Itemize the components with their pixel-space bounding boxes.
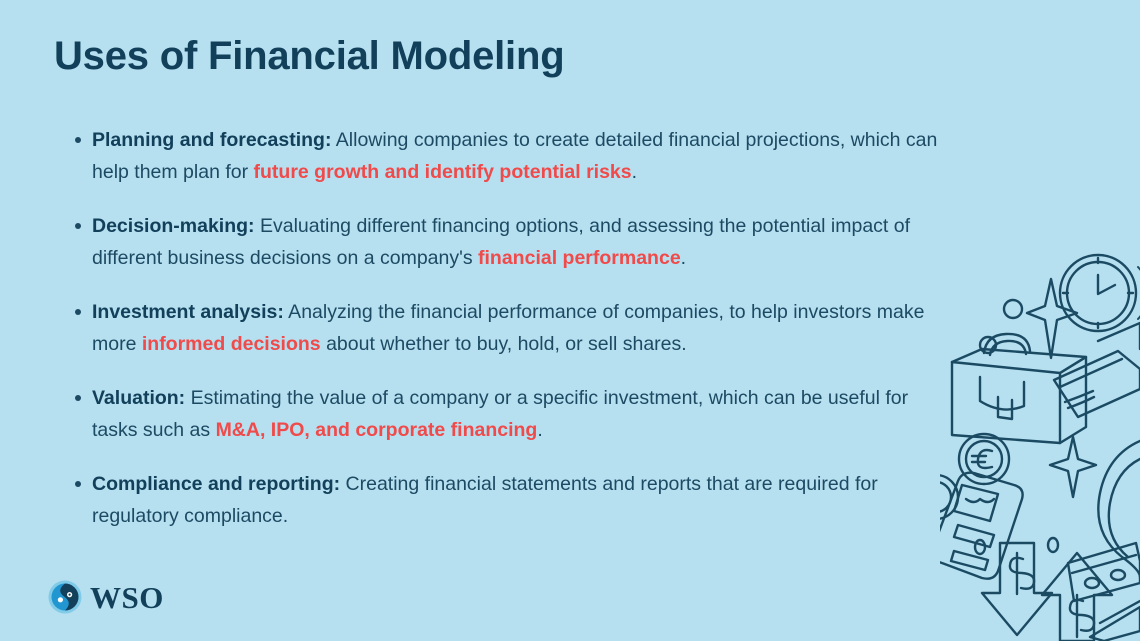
slide-canvas: Uses of Financial Modeling Planning and … [0, 0, 1140, 641]
wso-wordmark: WSO [90, 582, 164, 613]
bullet-list: Planning and forecasting: Allowing compa… [72, 124, 952, 532]
list-item: Valuation: Estimating the value of a com… [72, 382, 952, 446]
clock-icon [1060, 255, 1140, 331]
bullet-highlight: future growth and identify potential ris… [254, 161, 632, 183]
four-point-star-icon [1050, 437, 1096, 497]
bullet-text-after: . [632, 161, 637, 183]
bullet-text-after: . [681, 247, 686, 269]
card-reader-icon [940, 473, 1023, 579]
bullet-lead: Decision-making: [92, 215, 255, 237]
list-item: Compliance and reporting: Creating finan… [72, 468, 952, 532]
bullet-dot-icon [75, 223, 81, 229]
up-arrow-dollar-icon [1042, 553, 1112, 641]
four-point-star-icon [1027, 279, 1077, 358]
financial-doodle-illustration [940, 245, 1140, 641]
bullet-highlight: M&A, IPO, and corporate financing [216, 419, 538, 441]
bullet-text-after: . [537, 419, 542, 441]
banknote-stack-icon [1068, 543, 1140, 601]
down-arrow-dollar-icon [982, 543, 1052, 635]
bullet-lead: Investment analysis: [92, 301, 284, 323]
bullet-dot-icon [75, 309, 81, 315]
bullet-lead: Valuation: [92, 387, 185, 409]
small-circle-icon [1048, 538, 1058, 552]
euro-coin-icon [959, 434, 1009, 484]
list-item: Decision-making: Evaluating different fi… [72, 210, 952, 274]
bullet-dot-icon [75, 481, 81, 487]
bullet-dot-icon [75, 137, 81, 143]
small-circle-icon [1004, 300, 1022, 318]
bullet-lead: Compliance and reporting: [92, 473, 340, 495]
bullet-highlight: informed decisions [142, 333, 321, 355]
bullet-dot-icon [75, 395, 81, 401]
wso-globe-icon [48, 580, 82, 614]
wso-logo[interactable]: WSO [48, 580, 164, 614]
banknote-stack-icon [1090, 601, 1140, 641]
bullet-lead: Planning and forecasting: [92, 129, 331, 151]
small-circle-icon [980, 337, 996, 353]
piggy-bank-icon [1098, 441, 1140, 577]
briefcase-icon [952, 334, 1086, 443]
list-item: Planning and forecasting: Allowing compa… [72, 124, 952, 188]
bullet-text-after: about whether to buy, hold, or sell shar… [321, 333, 687, 355]
small-circle-icon [975, 540, 985, 554]
bullet-highlight: financial performance [478, 247, 681, 269]
list-item: Investment analysis: Analyzing the finan… [72, 296, 952, 360]
page-title: Uses of Financial Modeling [54, 34, 564, 78]
credit-cards-icon [1054, 323, 1140, 417]
